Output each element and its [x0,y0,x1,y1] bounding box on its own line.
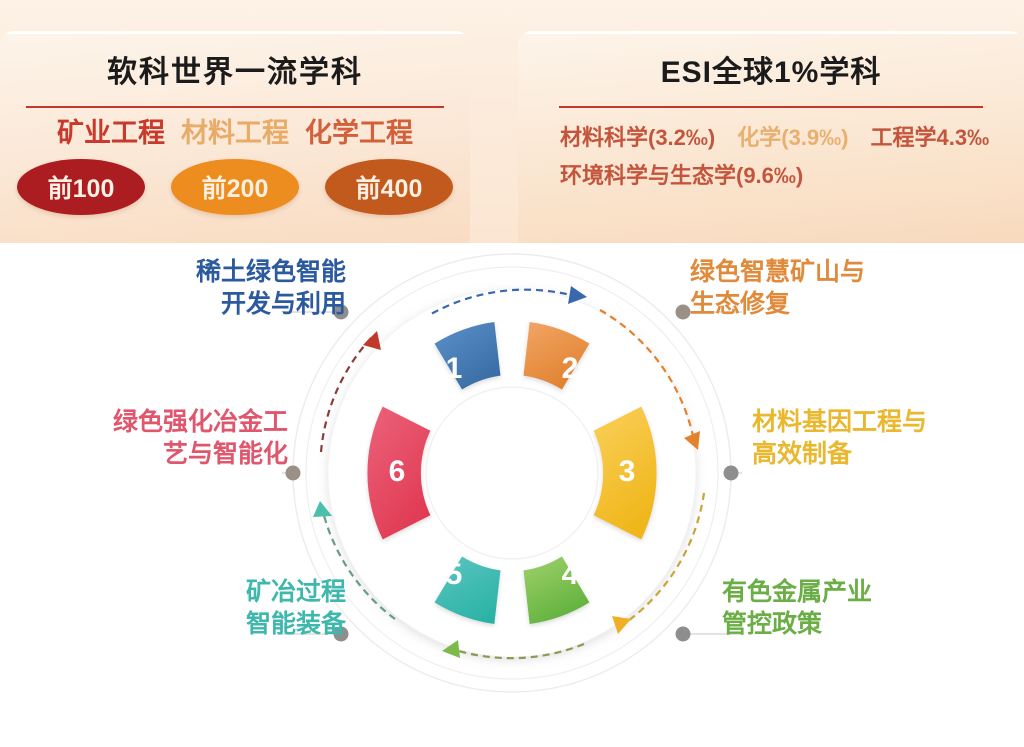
wheel-label-1: 稀土绿色智能 开发与利用 [104,256,346,320]
wheel-label-4: 有色金属产业 管控政策 [722,576,1002,640]
segment-number-6: 6 [389,455,406,488]
segment-number-2: 2 [562,352,579,385]
card-esi-divider [559,106,983,108]
card-esi-title: ESI全球1%学科 [518,58,1024,88]
discipline-badge-row: 前100 前200 前400 [0,159,470,215]
rank-badge: 前400 [325,159,453,215]
top-banner: 软科世界一流学科 矿业工程 材料工程 化学工程 前100 前200 前400 E… [0,0,1024,243]
discipline-name: 化学工程 [305,120,413,147]
card-ruanke-divider [26,106,444,108]
segment-number-3: 3 [619,455,636,488]
wheel-hub [426,387,598,559]
discipline-name: 矿业工程 [57,120,165,147]
infographic-root: 软科世界一流学科 矿业工程 材料工程 化学工程 前100 前200 前400 E… [0,0,1024,747]
esi-list: 材料科学(3.2‰) 化学(3.9‰) 工程学4.3‰ 环境科学与生态学(9.6… [518,124,1024,189]
card-ruanke-title: 软科世界一流学科 [0,58,470,88]
esi-item: 材料科学(3.2‰) [560,124,715,152]
wheel-section: 1 2 3 4 5 6 [0,243,1024,747]
segment-number-1: 1 [446,352,463,385]
connector-3 [724,466,743,481]
cycle-wheel-diagram: 1 2 3 4 5 6 [282,238,742,708]
esi-item: 环境科学与生态学(9.6‰) [560,162,803,190]
wheel-label-2: 绿色智慧矿山与 生态修复 [690,256,990,320]
discipline-name: 材料工程 [181,120,289,147]
esi-item: 化学(3.9‰) [737,124,848,152]
esi-line: 材料科学(3.2‰) 化学(3.9‰) 工程学4.3‰ [560,124,1024,152]
wheel-label-6: 绿色强化冶金工 艺与智能化 [10,406,288,470]
esi-line: 环境科学与生态学(9.6‰) [560,162,1024,190]
wheel-label-5: 矿冶过程 智能装备 [108,576,346,640]
segment-number-4: 4 [562,558,579,591]
rank-badge: 前200 [171,159,299,215]
rank-badge: 前100 [17,159,145,215]
discipline-name-row: 矿业工程 材料工程 化学工程 [0,120,470,147]
stat-cards-row: 软科世界一流学科 矿业工程 材料工程 化学工程 前100 前200 前400 E… [0,0,1024,243]
wheel-label-3: 材料基因工程与 高效制备 [752,406,1022,470]
segment-number-5: 5 [446,558,463,591]
esi-item: 工程学4.3‰ [871,124,990,152]
card-esi: ESI全球1%学科 材料科学(3.2‰) 化学(3.9‰) 工程学4.3‰ 环境… [518,31,1024,243]
card-ruanke: 软科世界一流学科 矿业工程 材料工程 化学工程 前100 前200 前400 [0,31,470,243]
